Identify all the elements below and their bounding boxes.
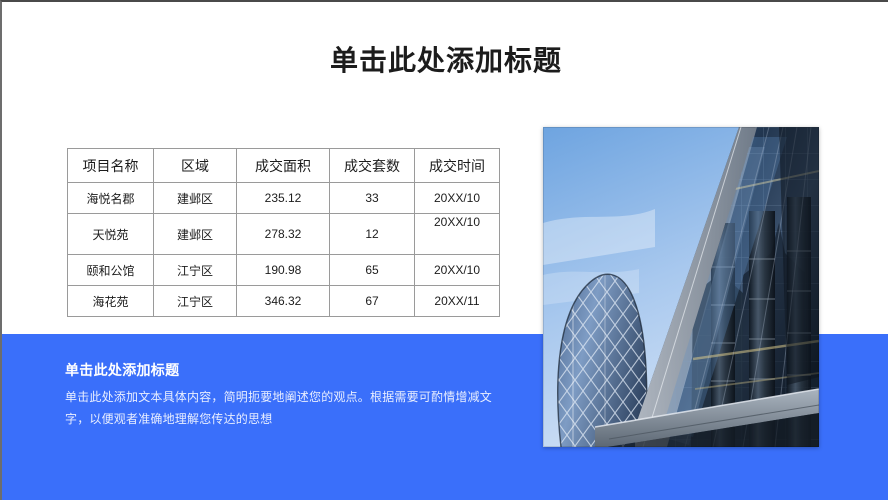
table-row[interactable]: 海悦名郡 建邺区 235.12 33 20XX/10 [68, 183, 500, 214]
cell-deal-date: 20XX/10 [415, 255, 500, 286]
table-row[interactable]: 天悦苑 建邺区 278.32 12 20XX/10 [68, 214, 500, 255]
table-header-row: 项目名称 区域 成交面积 成交套数 成交时间 [68, 149, 500, 183]
presentation-slide: 单击此处添加标题 项目名称 区域 成交面积 成交套数 成交时间 海悦名郡 建邺区… [0, 0, 888, 500]
table-header-district: 区域 [154, 149, 237, 183]
cell-project-name: 颐和公馆 [68, 255, 154, 286]
transaction-table[interactable]: 项目名称 区域 成交面积 成交套数 成交时间 海悦名郡 建邺区 235.12 3… [67, 148, 500, 317]
cell-district: 建邺区 [154, 183, 237, 214]
cell-deal-date: 20XX/10 [415, 183, 500, 214]
cell-project-name: 海花苑 [68, 286, 154, 317]
cell-project-name: 天悦苑 [68, 214, 154, 255]
cell-deal-units: 65 [330, 255, 415, 286]
cell-deal-units: 33 [330, 183, 415, 214]
building-photo[interactable] [543, 127, 819, 447]
cell-deal-area: 346.32 [237, 286, 330, 317]
cell-deal-date: 20XX/11 [415, 286, 500, 317]
cell-deal-units: 12 [330, 214, 415, 255]
cell-district: 江宁区 [154, 255, 237, 286]
band-body-text[interactable]: 单击此处添加文本具体内容，简明扼要地阐述您的观点。根据需要可酌情增减文字，以便观… [65, 386, 515, 430]
cell-district: 建邺区 [154, 214, 237, 255]
table-header-deal-area: 成交面积 [237, 149, 330, 183]
cell-project-name: 海悦名郡 [68, 183, 154, 214]
cell-deal-units: 67 [330, 286, 415, 317]
table-row[interactable]: 颐和公馆 江宁区 190.98 65 20XX/10 [68, 255, 500, 286]
building-photo-graphic [543, 127, 819, 447]
table-row[interactable]: 海花苑 江宁区 346.32 67 20XX/11 [68, 286, 500, 317]
table-header-deal-date: 成交时间 [415, 149, 500, 183]
table-header-deal-units: 成交套数 [330, 149, 415, 183]
cell-deal-date: 20XX/10 [415, 214, 500, 255]
cell-deal-area: 235.12 [237, 183, 330, 214]
band-heading[interactable]: 单击此处添加标题 [65, 360, 179, 380]
page-title[interactable]: 单击此处添加标题 [2, 44, 888, 78]
cell-district: 江宁区 [154, 286, 237, 317]
table-header-project-name: 项目名称 [68, 149, 154, 183]
cell-deal-area: 190.98 [237, 255, 330, 286]
cell-deal-area: 278.32 [237, 214, 330, 255]
